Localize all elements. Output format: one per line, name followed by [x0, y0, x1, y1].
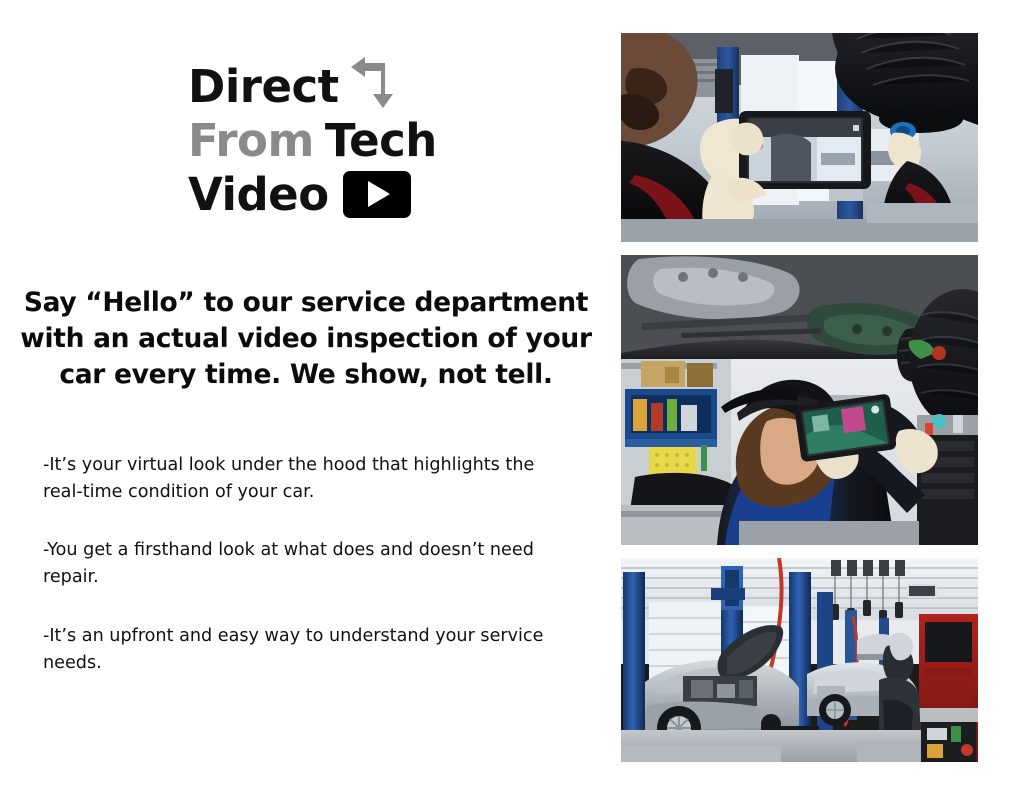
elbow-arrow-left-down-icon [347, 54, 409, 112]
bullet-item: -It’s your virtual look under the hood t… [43, 452, 573, 505]
play-triangle-shape [368, 181, 390, 207]
logo-line-1: Direct [188, 58, 458, 114]
brand-logo: Direct From Tech Video [188, 58, 458, 222]
photo-service-bay-overview [621, 558, 978, 762]
logo-word-video: Video [188, 172, 329, 217]
headline-text: Say “Hello” to our service department wi… [18, 285, 594, 393]
logo-line-3: Video [188, 166, 458, 222]
bullet-list: -It’s your virtual look under the hood t… [43, 452, 573, 676]
photo-technician-filming-tire [621, 33, 978, 242]
logo-word-tech: Tech [325, 118, 437, 163]
logo-word-direct: Direct [188, 64, 339, 109]
play-button-icon [343, 171, 411, 218]
bullet-item: -You get a firsthand look at what does a… [43, 537, 573, 590]
photo-technician-filming-undercarriage [621, 255, 978, 545]
logo-word-from: From [188, 118, 325, 163]
logo-line-2: From Tech [188, 112, 458, 168]
left-content-column: Direct From Tech Video Say “Hello” to ou… [0, 0, 612, 804]
bullet-item: -It’s an upfront and easy way to underst… [43, 623, 573, 676]
